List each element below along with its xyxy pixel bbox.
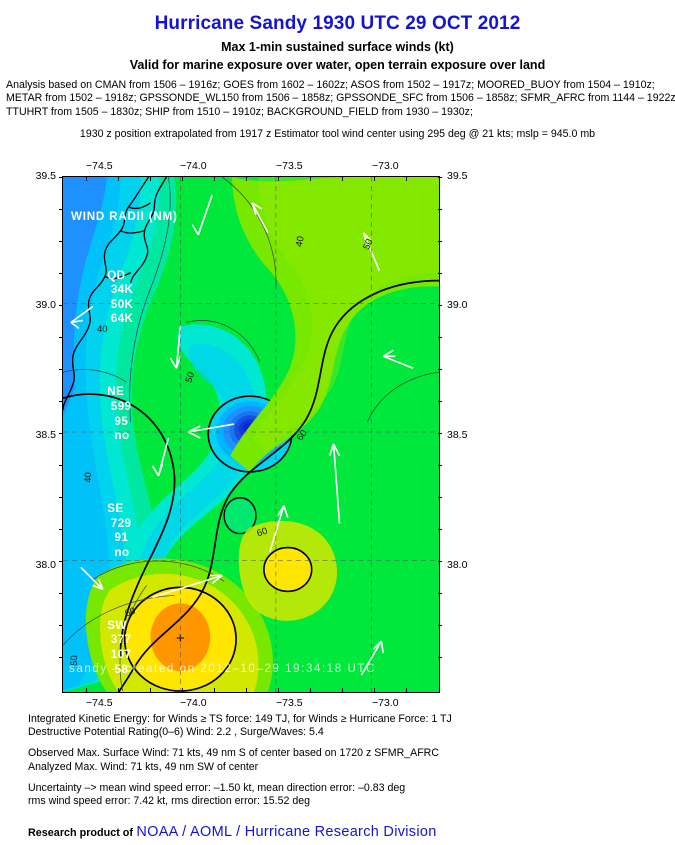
x-axis-tick-label-top: −74.5 — [86, 160, 113, 172]
wind-field-plot: −74.5 −74.0 −73.5 −73.0 39.5 39.0 38.5 3… — [0, 161, 675, 706]
analyzed-max-wind-line: Analyzed Max. Wind: 71 kts, 49 nm SW of … — [28, 761, 668, 774]
uncertainty-mean-line: Uncertainty –> mean wind speed error: –1… — [28, 782, 668, 795]
y-axis-tick-label-right: 38.0 — [447, 559, 467, 571]
wind-analysis-page: Hurricane Sandy 1930 UTC 29 OCT 2012 Max… — [0, 13, 675, 845]
analysis-source-line: Analysis based on CMAN from 1506 – 1916z… — [6, 79, 669, 92]
y-axis-tick-label-left: 39.0 — [22, 299, 56, 311]
y-axis-tick-label-left: 38.0 — [22, 559, 56, 571]
uncertainty-rms-line: rms wind speed error: 7.42 kt, rms direc… — [28, 795, 668, 808]
storm-position-line: 1930 z position extrapolated from 1917 z… — [0, 128, 675, 140]
observed-max-wind-line: Observed Max. Surface Wind: 71 kts, 49 n… — [28, 747, 668, 760]
x-axis-tick-label-top: −74.0 — [180, 160, 207, 172]
credit-organization: NOAA / AOML / Hurricane Research Divisio… — [136, 824, 436, 840]
x-axis-tick-label-bottom: −73.0 — [372, 697, 399, 709]
y-axis-tick-label-right: 39.5 — [447, 170, 467, 182]
credit-label: Research product of — [28, 827, 133, 839]
analysis-source-line: TTUHRT from 1505 – 1830z; SHIP from 1510… — [6, 106, 669, 119]
y-axis-tick-label-left: 38.5 — [22, 429, 56, 441]
page-subtitle-secondary: Valid for marine exposure over water, op… — [0, 58, 675, 72]
x-axis-tick-label-bottom: −73.5 — [276, 697, 303, 709]
integrated-kinetic-energy-line: Integrated Kinetic Energy: for Winds ≥ T… — [28, 713, 668, 726]
page-subtitle-primary: Max 1-min sustained surface winds (kt) — [0, 40, 675, 54]
x-axis-tick-label-bottom: −74.5 — [86, 697, 113, 709]
map-frame: + — [62, 176, 440, 693]
research-credit: Research product of NOAA / AOML / Hurric… — [28, 824, 668, 840]
x-axis-tick-label-bottom: −74.0 — [180, 697, 207, 709]
y-axis-tick-label-right: 39.0 — [447, 299, 467, 311]
x-axis-tick-label-top: −73.5 — [276, 160, 303, 172]
analysis-source-line: METAR from 1502 – 1918z; GPSSONDE_WL150 … — [6, 92, 669, 105]
contour-svg: + — [63, 177, 439, 692]
x-axis-tick-label-top: −73.0 — [372, 160, 399, 172]
page-footer: Integrated Kinetic Energy: for Winds ≥ T… — [28, 713, 668, 840]
analysis-sources: Analysis based on CMAN from 1506 – 1916z… — [0, 79, 675, 119]
wind-speed-contour-field: + — [63, 177, 439, 692]
destructive-potential-line: Destructive Potential Rating(0–6) Wind: … — [28, 726, 668, 739]
page-header: Hurricane Sandy 1930 UTC 29 OCT 2012 Max… — [0, 13, 675, 140]
y-axis-tick-label-right: 38.5 — [447, 429, 467, 441]
y-axis-tick-label-left: 39.5 — [22, 170, 56, 182]
page-title: Hurricane Sandy 1930 UTC 29 OCT 2012 — [0, 13, 675, 35]
